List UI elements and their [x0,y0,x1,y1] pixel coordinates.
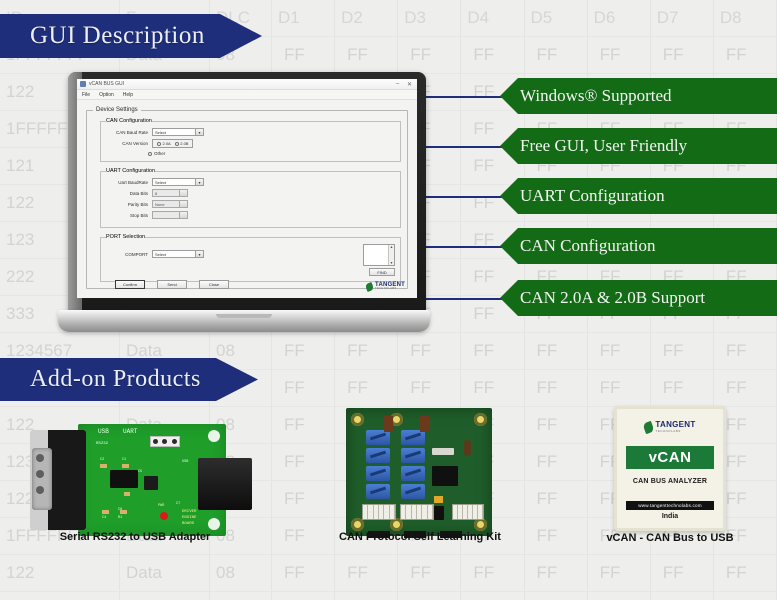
laptop-notch [216,314,272,318]
watermark-cell: FF [525,407,588,444]
blue-terminal-block [366,466,390,481]
vcan-logo-tagline: TECHNOLABS [655,429,695,433]
can-version-other-radio[interactable]: Other [148,151,395,156]
stop-bits-row: Stop Bits [106,211,395,219]
vcan-product-box: TANGENT TECHNOLABS vCAN CAN BUS ANALYZER… [614,406,726,531]
leaf-icon [643,420,655,433]
silkscreen-rs232: RS232 [96,442,108,446]
watermark-cell: FF [398,555,461,592]
uart-baudrate-row: Uart BaudRate Select ▾ [106,178,395,186]
banner-gui-description: GUI Description [0,14,262,58]
silkscreen-engine: ENGINE [182,516,196,520]
silkscreen-usb: USB [98,428,109,435]
dip-switch [400,504,434,520]
brown-component [384,416,393,432]
laptop-lid: vCAN BUS GUI – ✕ File Option Help Device… [68,72,426,314]
watermark-cell: FF [525,370,588,407]
app-body: Device Settings CAN Configuration CAN Ba… [77,100,417,298]
confirm-button[interactable]: Confirm [115,280,145,289]
parity-bits-label: Parity Bits [106,202,148,207]
vcan-country: India [662,513,678,520]
app-icon [80,81,86,87]
watermark-cell: FF [335,592,398,600]
smd-capacitor [100,464,107,468]
blue-terminal-block [401,448,425,463]
watermark-cell: FF [588,333,651,370]
menu-item-option[interactable]: Option [99,92,114,98]
feature-banner-can-20a-20b-support[interactable]: CAN 2.0A & 2.0B Support [500,280,777,316]
product-vcan-usb: TANGENT TECHNOLABS vCAN CAN BUS ANALYZER… [600,406,740,544]
watermark-cell: FF [461,37,524,74]
watermark-cell: D4 [461,0,524,37]
ic-chip-small [144,476,158,490]
watermark-cell: FF [525,444,588,481]
comport-label: COMPORT [106,252,148,257]
watermark-cell: FF [272,592,335,600]
electrolytic-capacitor [464,440,471,456]
db9-pin [36,454,44,462]
usb-connector [198,458,252,510]
silkscreen-uart: UART [123,428,137,435]
mounting-hole [351,413,364,426]
watermark-cell: FF [525,481,588,518]
watermark-cell: FF [714,592,777,600]
watermark-cell: FF [588,555,651,592]
spinner-icon[interactable] [179,201,187,207]
app-menu-bar: File Option Help [77,90,417,100]
watermark-cell: FF [272,333,335,370]
connector-line-5 [420,298,502,300]
smd-capacitor [102,510,109,514]
silkscreen-c5: C5 [138,470,142,474]
can-version-20a-radio[interactable]: 2.0A [157,141,171,146]
can-configuration-legend: CAN Configuration [106,118,152,124]
db9-pin [36,486,44,494]
smd-capacitor [120,510,127,514]
tangent-logo: TANGENT TECHNOLABS [644,421,695,433]
blue-terminal-block [401,466,425,481]
blue-terminal-block [366,430,390,445]
watermark-cell: FF [398,333,461,370]
smd-resistor [124,492,130,496]
connector-line-2 [420,146,502,148]
laptop-screen: vCAN BUS GUI – ✕ File Option Help Device… [77,79,417,298]
vcan-website-url: www.tangenttechnolabs.com [626,501,714,510]
watermark-cell: 122 [0,555,120,592]
silkscreen-c1: C1 [122,458,126,462]
port-selection-group: PORT Selection COMPORT Select ▾ [100,234,401,282]
menu-item-help[interactable]: Help [123,92,133,98]
watermark-cell: FF [272,444,335,481]
watermark-cell: FF [335,370,398,407]
can-version-label: CAN Version [106,141,148,146]
product-caption-vcan: vCAN - CAN Bus to USB [600,532,740,544]
spinner-icon[interactable] [179,190,187,196]
comport-select[interactable]: Select ▾ [152,250,204,258]
db9-connector [30,430,86,530]
smd-capacitor [434,496,443,503]
parity-bits-value: None [155,202,165,207]
can-baudrate-label: CAN Baud Rate [106,130,148,135]
feature-banner-windows-supported[interactable]: Windows® Supported [500,78,777,114]
product-caption-can-kit: CAN Protocol Self Learning Kit [330,531,510,543]
banner-add-on-products: Add-on Products [0,358,258,401]
radio-unselected-icon [148,152,152,156]
3pin-header [150,436,180,447]
app-title-bar: vCAN BUS GUI – ✕ [77,79,417,90]
watermark-cell: FF [272,555,335,592]
silkscreen-pwr: PWR [158,504,164,508]
blue-terminal-block [401,484,425,499]
uart-baudrate-select[interactable]: Select ▾ [152,178,204,186]
watermark-cell: FF [714,555,777,592]
scroll-up-icon[interactable]: ▲ [390,245,393,249]
watermark-cell: FF [651,555,714,592]
silkscreen-usb2: USB [182,460,188,464]
chevron-down-icon[interactable]: ▾ [195,179,203,185]
vcan-logo-name: TANGENT [655,421,695,429]
uart-baudrate-label: Uart BaudRate [106,180,148,185]
watermark-cell: FF [714,370,777,407]
power-led [160,512,168,520]
mounting-pad [208,518,220,530]
product-can-protocol-kit: CAN Protocol Self Learning Kit [330,408,510,543]
uart-baudrate-value: Select [155,180,166,185]
watermark-cell: FF [461,592,524,600]
watermark-cell: FF [335,333,398,370]
watermark-cell: FF [525,555,588,592]
product-caption-rs232: Serial RS232 to USB Adapter [30,531,240,543]
watermark-cell: FF [525,592,588,600]
watermark-cell: D6 [588,0,651,37]
can-baudrate-value: Select [155,130,166,135]
tangent-logo-tagline: TECHNOLABS [375,288,405,291]
port-selection-legend: PORT Selection [106,234,145,240]
send-button[interactable]: Send [157,280,187,289]
watermark-cell: Data [120,592,210,600]
scrollbar[interactable]: ▲ ▼ [388,245,394,265]
uart-configuration-legend: UART Configuration [106,168,155,174]
watermark-cell: D7 [651,0,714,37]
data-bits-row: Data Bits 8 [106,189,395,197]
can-baudrate-select[interactable]: Select ▾ [152,128,204,136]
watermark-cell: FF [714,333,777,370]
product-rs232-usb-adapter: USB UART RS232 C2 C1 C3 C5 C6 C4 R1 PWR … [30,418,240,543]
feature-banner-free-gui[interactable]: Free GUI, User Friendly [500,128,777,164]
can-configuration-group: CAN Configuration CAN Baud Rate Select ▾… [100,118,401,162]
parity-bits-input[interactable]: None [152,200,188,208]
close-button[interactable]: Close [199,280,229,289]
watermark-cell: D2 [335,0,398,37]
watermark-cell: FF [272,370,335,407]
parity-bits-row: Parity Bits None [106,200,395,208]
can-baudrate-row: CAN Baud Rate Select ▾ [106,128,395,136]
brown-component [420,416,429,432]
watermark-cell: FF [335,555,398,592]
radio-selected-icon [157,142,161,146]
can-version-row: CAN Version 2.0A 2.0B [106,139,395,148]
watermark-cell: FF [461,370,524,407]
comport-row: COMPORT Select ▾ [106,250,357,258]
port-selection-row: COMPORT Select ▾ ▲ [106,244,395,276]
data-bits-value: 8 [155,191,157,196]
scroll-down-icon[interactable]: ▼ [390,261,393,265]
watermark-cell: 08 [210,555,272,592]
watermark-cell: FF [398,592,461,600]
watermark-cell: FF [461,555,524,592]
watermark-cell: FF [651,370,714,407]
watermark-cell: FF [272,37,335,74]
watermark-cell: FF [588,592,651,600]
silkscreen-c7: C7 [176,502,180,506]
blue-terminal-block [366,484,390,499]
connector-line-4 [420,246,502,248]
can-version-20b-radio[interactable]: 2.0B [175,141,189,146]
watermark-cell: Data [120,555,210,592]
feature-banner-uart-configuration[interactable]: UART Configuration [500,178,777,214]
watermark-cell: FF [272,407,335,444]
laptop-base [58,310,430,332]
watermark-cell: D1 [272,0,335,37]
smd-part [432,448,454,455]
watermark-cell: FF [335,37,398,74]
db9-pin [36,470,44,478]
dip-switch [362,504,396,520]
blue-terminal-block [366,448,390,463]
watermark-cell: D5 [525,0,588,37]
minimize-icon[interactable]: – [393,81,402,87]
can-version-20b-label: 2.0B [180,141,188,146]
ic-chip [432,466,458,486]
stop-bits-label: Stop Bits [106,213,148,218]
silkscreen-r1: R1 [118,516,122,520]
chevron-down-icon[interactable]: ▾ [195,251,203,257]
watermark-cell: FF [651,333,714,370]
smd-capacitor [122,464,129,468]
silkscreen-c4: C4 [102,516,106,520]
close-icon[interactable]: ✕ [405,81,414,88]
silkscreen-c2: C2 [100,458,104,462]
can-version-20a-label: 2.0A [163,141,171,146]
watermark-cell: 08 [210,592,272,600]
radio-unselected-icon [175,142,179,146]
device-settings-group: Device Settings CAN Configuration CAN Ba… [86,107,408,289]
chevron-down-icon[interactable]: ▾ [195,129,203,135]
vcan-product-name: vCAN [626,446,714,469]
app-window-title: vCAN BUS GUI [89,81,390,87]
connector-line-1 [420,96,502,98]
port-list-box[interactable]: ▲ ▼ [363,244,395,266]
mounting-hole [474,413,487,426]
data-bits-input[interactable]: 8 [152,189,188,197]
feature-banner-can-configuration[interactable]: CAN Configuration [500,228,777,264]
can-version-other-label: Other [154,151,165,156]
vcan-product-desc: CAN BUS ANALYZER [633,478,707,485]
action-button-row: Confirm Send Close [115,280,229,289]
watermark-cell: FF [588,370,651,407]
mounting-pad [208,430,220,442]
watermark-cell: D8 [714,0,777,37]
connector-line-3 [420,196,502,198]
can-version-radio-group: 2.0A 2.0B [152,139,193,148]
silkscreen-board: BOARD [182,522,194,526]
watermark-cell: FF [588,37,651,74]
uart-configuration-group: UART Configuration Uart BaudRate Select … [100,168,401,228]
watermark-cell: FF [651,592,714,600]
tangent-logo: TANGENT TECHNOLABS [366,282,405,291]
watermark-cell: FF [525,37,588,74]
leaf-icon [365,282,374,292]
pcb-board-can-kit [346,408,492,536]
blue-terminal-block [401,430,425,445]
watermark-cell: FF [651,37,714,74]
watermark-cell: FF [398,370,461,407]
spinner-icon[interactable] [179,212,187,218]
watermark-cell: FF [525,518,588,555]
laptop-mockup: vCAN BUS GUI – ✕ File Option Help Device… [58,72,430,334]
watermark-cell: FF [525,333,588,370]
ic-chip [110,470,138,488]
silkscreen-driver: DRIVER [182,510,196,514]
dip-switch [452,504,484,520]
port-selection-left: COMPORT Select ▾ [106,244,357,261]
watermark-cell: 123 [0,592,120,600]
watermark-cell: FF [272,518,335,555]
menu-item-file[interactable]: File [82,92,90,98]
find-button[interactable]: FIND [369,268,395,276]
watermark-cell: FF [714,37,777,74]
data-bits-label: Data Bits [106,191,148,196]
watermark-cell: D3 [398,0,461,37]
watermark-cell: FF [461,333,524,370]
device-settings-legend: Device Settings [93,107,141,113]
watermark-cell: FF [398,37,461,74]
watermark-cell: FF [272,481,335,518]
comport-value: Select [155,252,166,257]
stop-bits-input[interactable] [152,211,188,219]
